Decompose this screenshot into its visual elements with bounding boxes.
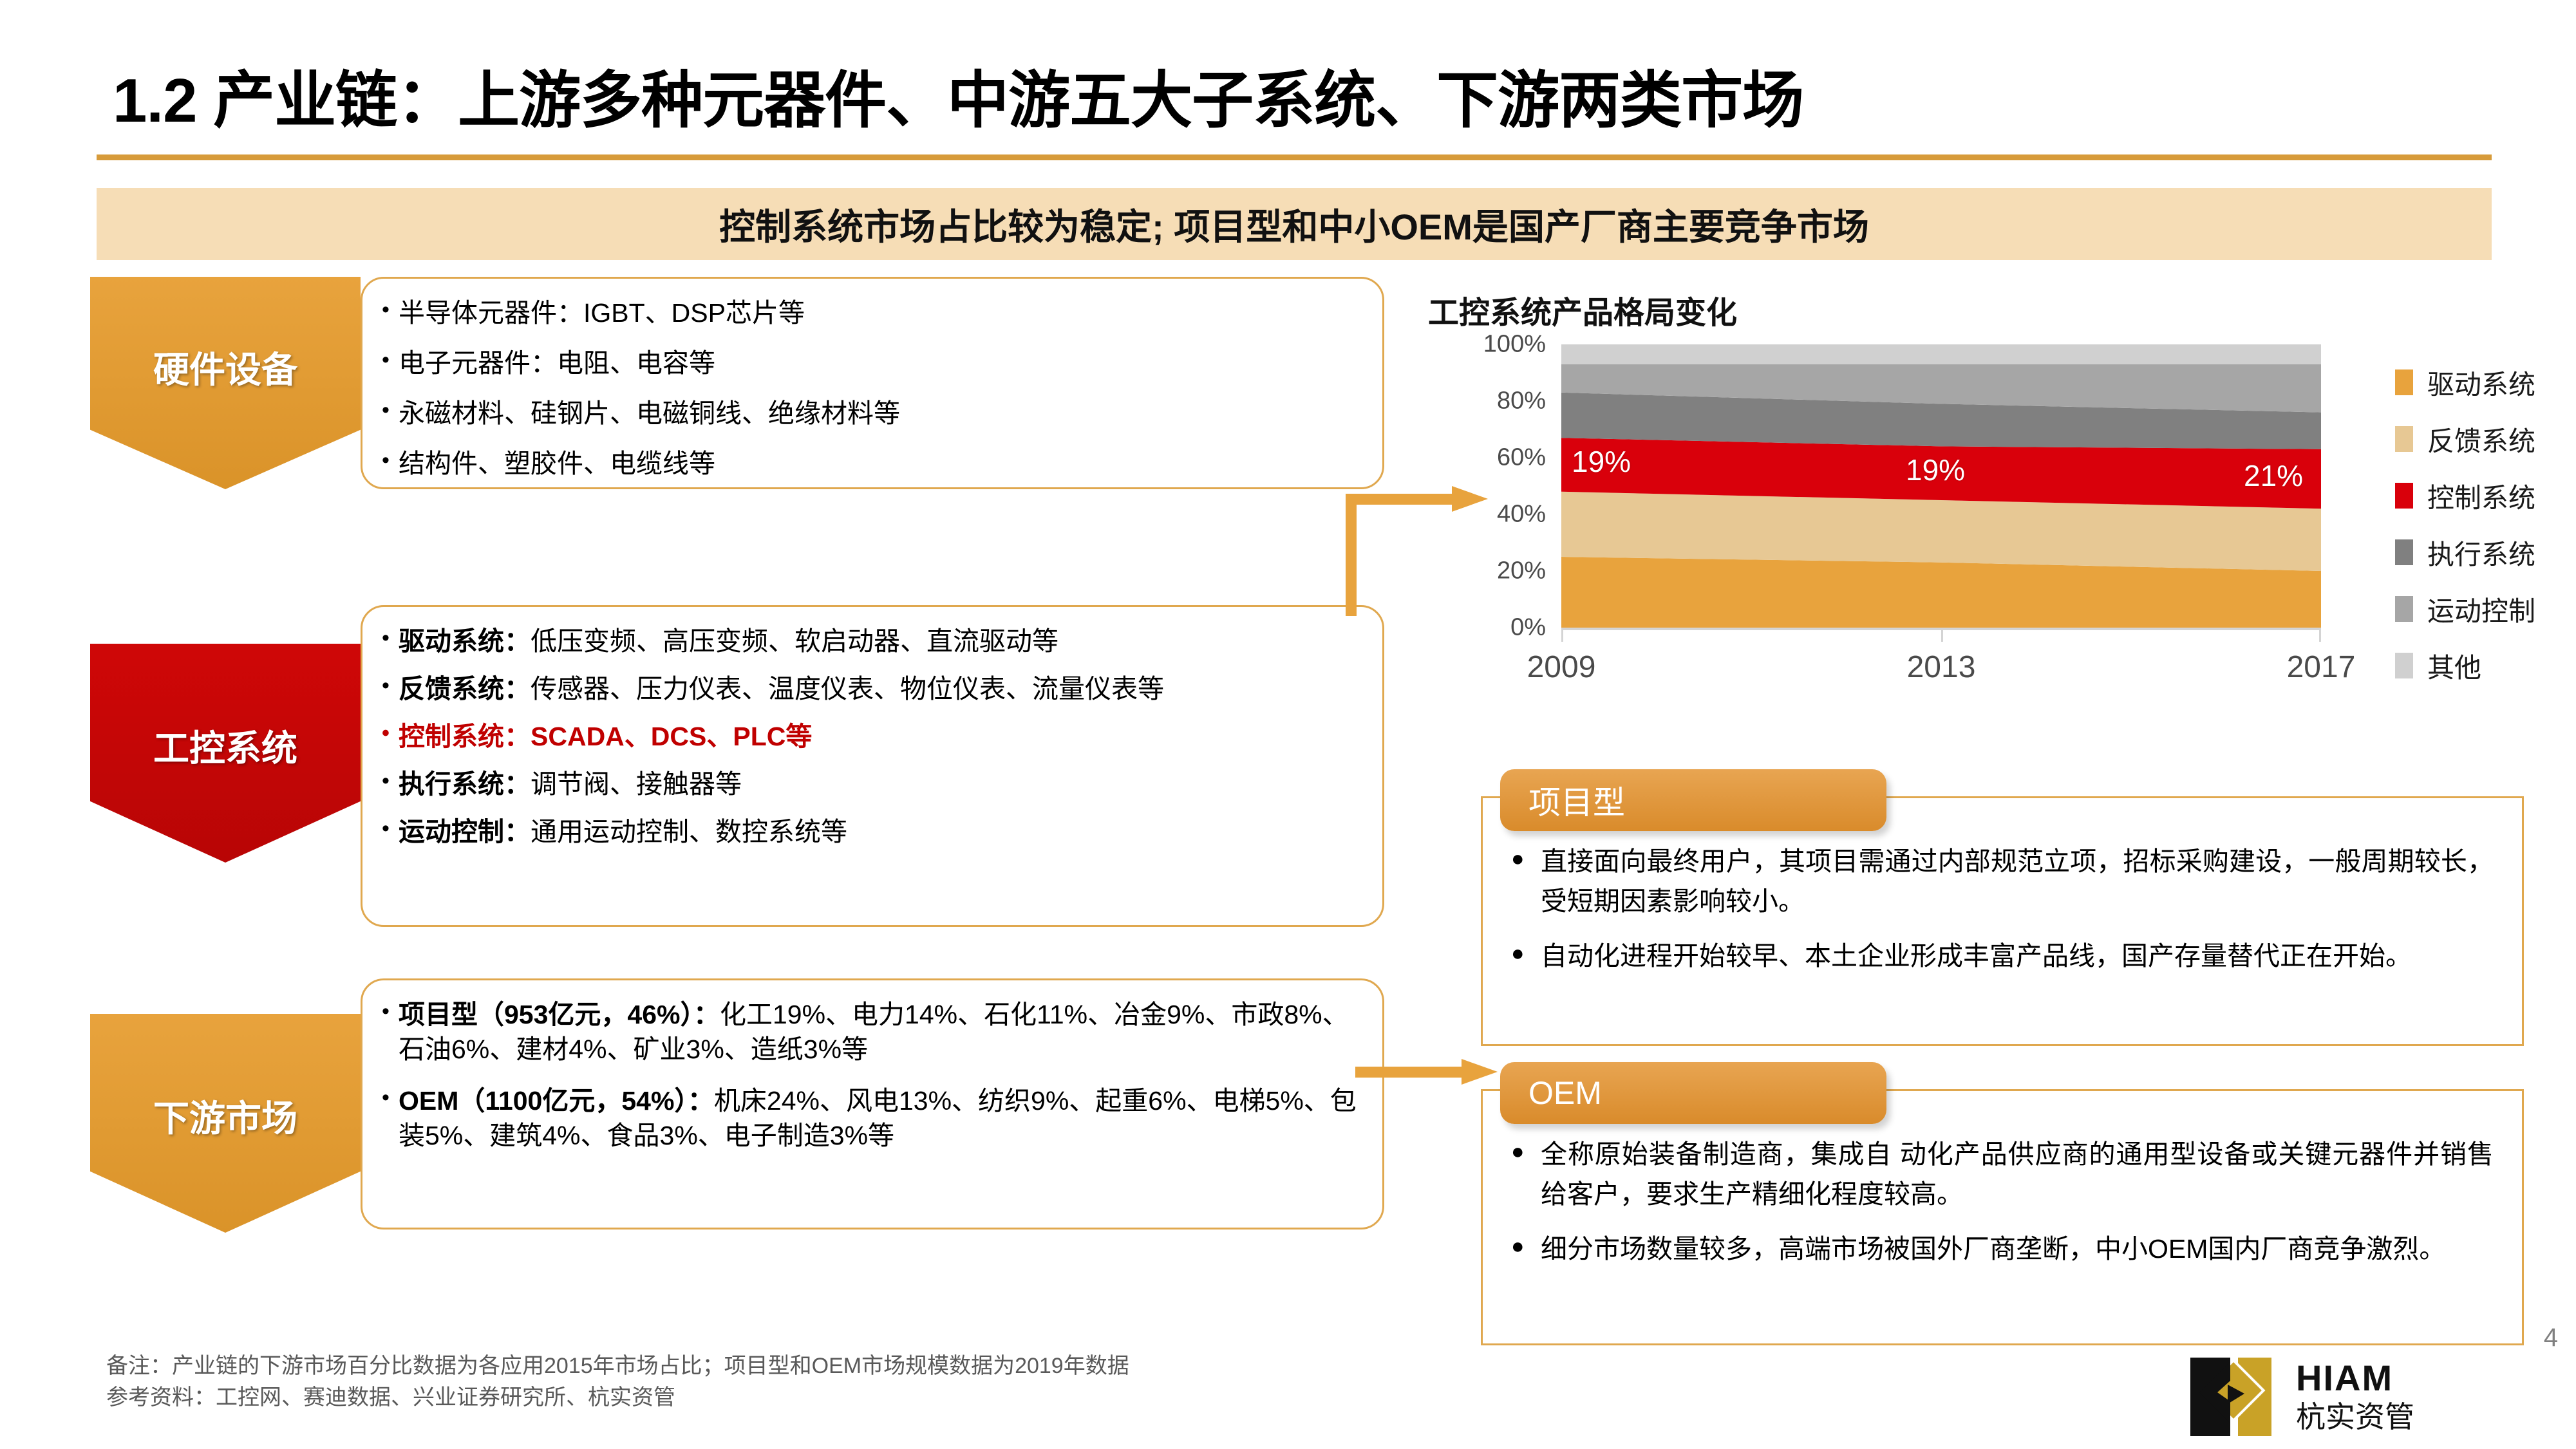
list-item: ● 直接面向最终用户，其项目需通过内部规范立项，招标采购建设，一般周期较长，受短… [1511, 842, 2494, 921]
x-axis-tickmark [1561, 628, 1563, 642]
list-item: ● 全称原始装备制造商，集成自 动化产品供应商的通用型设备或关键元器件并销售给客… [1511, 1135, 2494, 1214]
term-label: OEM（1100亿元，54%）： [399, 1086, 714, 1116]
bullet-icon: • [382, 446, 399, 476]
bullet-icon: • [382, 671, 399, 701]
info-card-title: 项目型 [1528, 777, 1625, 823]
stage-chevron-ics: 工控系统 [90, 644, 361, 863]
legend-label: 驱动系统 [2427, 363, 2535, 402]
subtitle-text: 控制系统市场占比较为稳定; 项目型和中小OEM是国产厂商主要竞争市场 [97, 188, 2492, 260]
list-item: • 结构件、塑胶件、电缆线等 [382, 446, 1360, 481]
y-axis-tick-label: 100% [1483, 331, 1546, 359]
title-divider [97, 154, 2492, 160]
term-label: 项目型（953亿元，46%）： [399, 1000, 720, 1029]
bullet-icon: • [382, 814, 399, 844]
content-box-hardware: • 半导体元器件：IGBT、DSP芯片等 • 电子元器件：电阻、电容等 • 永磁… [361, 277, 1384, 489]
legend-label: 反馈系统 [2427, 420, 2535, 459]
footer-source: 参考资料：工控网、赛迪数据、兴业证券研究所、杭实资管 [106, 1382, 1651, 1414]
chart-data-label: 21% [2244, 458, 2303, 493]
list-item-highlighted: • 控制系统：SCADA、DCS、PLC等 [382, 719, 1360, 754]
legend-swatch-icon [2395, 539, 2413, 565]
info-card-header-project: 项目型 [1500, 769, 1886, 831]
legend-swatch-icon [2395, 426, 2413, 452]
bullet-icon: ● [1511, 937, 1541, 971]
bullet-icon: • [382, 346, 399, 375]
subtitle-banner: 控制系统市场占比较为稳定; 项目型和中小OEM是国产厂商主要竞争市场 [97, 188, 2492, 260]
term-label: 驱动系统： [399, 626, 531, 656]
x-axis-tickmark [2319, 628, 2321, 642]
term-label: 控制系统： [399, 722, 531, 751]
term-detail: 通用运动控制、数控系统等 [531, 817, 847, 846]
legend-label: 执行系统 [2427, 533, 2535, 572]
list-item: • 项目型（953亿元，46%）：化工19%、电力14%、石化11%、冶金9%、… [382, 997, 1360, 1067]
list-item: • 电子元器件：电阻、电容等 [382, 346, 1360, 380]
term-label: 执行系统： [399, 769, 531, 799]
arrow-riser [1346, 494, 1357, 616]
legend-label: 运动控制 [2427, 590, 2535, 629]
list-item: • 驱动系统：低压变频、高压变频、软启动器、直流驱动等 [382, 624, 1360, 659]
chart-panel: 工控系统产品格局变化 0%20%40%60%80%100% 2009201320… [1416, 283, 2562, 734]
y-axis-tick-label: 80% [1497, 388, 1546, 415]
info-card-body: ● 直接面向最终用户，其项目需通过内部规范立项，招标采购建设，一般周期较长，受短… [1481, 796, 2524, 1046]
info-card-project: ● 直接面向最终用户，其项目需通过内部规范立项，招标采购建设，一般周期较长，受短… [1481, 769, 2524, 1046]
list-item: • 运动控制：通用运动控制、数控系统等 [382, 814, 1360, 849]
term-label: 运动控制： [399, 817, 531, 846]
logo-text: HIAM 杭实资管 [2296, 1360, 2414, 1434]
term-detail: 调节阀、接触器等 [531, 769, 742, 799]
bullet-icon: ● [1511, 1135, 1541, 1169]
list-item: • 执行系统：调节阀、接触器等 [382, 767, 1360, 801]
chart-legend: 驱动系统反馈系统控制系统执行系统运动控制其他 [2395, 354, 2556, 694]
legend-item: 反馈系统 [2395, 411, 2556, 467]
legend-item: 控制系统 [2395, 467, 2556, 524]
bullet-icon: ● [1511, 1229, 1541, 1264]
chart-title: 工控系统产品格局变化 [1428, 287, 1737, 332]
legend-swatch-icon [2395, 653, 2413, 678]
area-series-其他 [1561, 344, 2321, 364]
bullet-icon: • [382, 719, 399, 749]
legend-item: 驱动系统 [2395, 354, 2556, 411]
legend-swatch-icon [2395, 483, 2413, 509]
chevron-label-ics: 工控系统 [153, 720, 297, 772]
chart-data-label: 19% [1572, 444, 1631, 479]
x-axis-tick-label: 2009 [1527, 650, 1596, 685]
legend-item: 执行系统 [2395, 524, 2556, 581]
x-axis-tick-label: 2017 [2287, 650, 2356, 685]
bullet-icon: ● [1511, 842, 1541, 876]
hiam-mark-svg [2189, 1356, 2279, 1437]
info-card-header-oem: OEM [1500, 1062, 1886, 1124]
term-detail: 传感器、压力仪表、温度仪表、物位仪表、流量仪表等 [531, 674, 1164, 704]
list-item: ● 细分市场数量较多，高端市场被国外厂商垄断，中小OEM国内厂商竞争激烈。 [1511, 1229, 2494, 1269]
bullet-icon: • [382, 396, 399, 425]
term-detail: SCADA、DCS、PLC等 [531, 722, 812, 751]
list-item: • 反馈系统：传感器、压力仪表、温度仪表、物位仪表、流量仪表等 [382, 671, 1360, 706]
list-item: • 半导体元器件：IGBT、DSP芯片等 [382, 295, 1360, 330]
stage-chevron-market: 下游市场 [90, 1014, 361, 1233]
legend-label: 其他 [2427, 646, 2481, 686]
hiam-logo-icon [2189, 1356, 2279, 1437]
legend-swatch-icon [2395, 369, 2413, 395]
stage-chevron-hardware: 硬件设备 [90, 277, 361, 489]
info-card-oem: ● 全称原始装备制造商，集成自 动化产品供应商的通用型设备或关键元器件并销售给客… [1481, 1062, 2524, 1345]
bullet-icon: • [382, 767, 399, 796]
logo-cn: 杭实资管 [2296, 1400, 2414, 1434]
y-axis-tick-label: 40% [1497, 501, 1546, 528]
list-item: • OEM（1100亿元，54%）：机床24%、风电13%、纺织9%、起重6%、… [382, 1083, 1360, 1153]
logo-en: HIAM [2296, 1360, 2414, 1396]
x-axis-tickmark [1941, 628, 1943, 642]
term-label: 反馈系统： [399, 674, 531, 704]
list-item: • 永磁材料、硅钢片、电磁铜线、绝缘材料等 [382, 396, 1360, 431]
bullet-icon: • [382, 1083, 399, 1113]
chart-y-axis: 0%20%40%60%80%100% [1442, 344, 1555, 628]
legend-swatch-icon [2395, 596, 2413, 622]
legend-label: 控制系统 [2427, 476, 2535, 516]
arrow-shaft [1355, 1067, 1465, 1078]
footer-note: 备注：产业链的下游市场百分比数据为各应用2015年市场占比；项目型和OEM市场规… [106, 1351, 1651, 1382]
info-card-body: ● 全称原始装备制造商，集成自 动化产品供应商的通用型设备或关键元器件并销售给客… [1481, 1089, 2524, 1345]
company-logo: HIAM 杭实资管 [2189, 1355, 2550, 1439]
list-item: ● 自动化进程开始较早、本土企业形成丰富产品线，国产存量替代正在开始。 [1511, 937, 2494, 977]
chart-data-label: 19% [1906, 453, 1965, 487]
legend-item: 运动控制 [2395, 581, 2556, 637]
x-axis-tick-label: 2013 [1907, 650, 1976, 685]
page-number: 4 [2544, 1323, 2558, 1352]
info-card-title: OEM [1528, 1074, 1602, 1112]
chevron-label-hardware: 硬件设备 [153, 341, 297, 393]
bullet-icon: • [382, 997, 399, 1027]
legend-item: 其他 [2395, 637, 2556, 694]
footer-notes: 备注：产业链的下游市场百分比数据为各应用2015年市场占比；项目型和OEM市场规… [106, 1351, 1651, 1414]
term-detail: 低压变频、高压变频、软启动器、直流驱动等 [531, 626, 1058, 656]
chart-plot-wrap: 0%20%40%60%80%100% 200920132017 19%19%21… [1442, 344, 2369, 660]
bullet-icon: • [382, 624, 399, 653]
page-title: 1.2 产业链：上游多种元器件、中游五大子系统、下游两类市场 [113, 50, 2495, 140]
y-axis-tick-label: 60% [1497, 444, 1546, 472]
content-box-ics: • 驱动系统：低压变频、高压变频、软启动器、直流驱动等 • 反馈系统：传感器、压… [361, 605, 1384, 927]
content-box-market: • 项目型（953亿元，46%）：化工19%、电力14%、石化11%、冶金9%、… [361, 978, 1384, 1229]
y-axis-tick-label: 0% [1510, 614, 1546, 642]
chevron-label-market: 下游市场 [153, 1090, 297, 1142]
bullet-icon: • [382, 295, 399, 325]
y-axis-tick-label: 20% [1497, 557, 1546, 585]
